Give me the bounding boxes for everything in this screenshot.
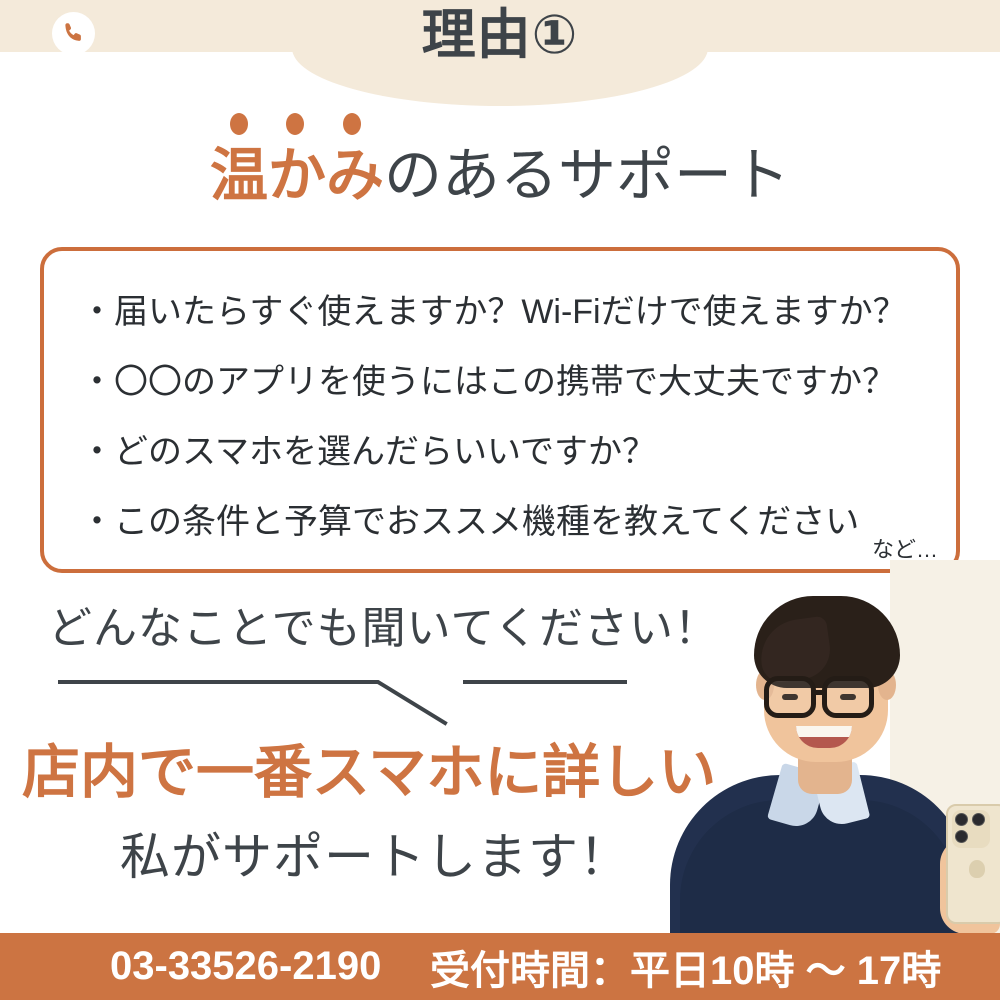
hero-headline-accent: 温かみ (210, 143, 384, 208)
staff-photo (640, 560, 1000, 933)
glasses-bridge-icon (814, 690, 826, 695)
phone-icon (52, 12, 95, 55)
page-title: 理由① (0, 4, 1000, 66)
poster-canvas: 理由① 温かみのあるサポート ・届いたらすぐ使えますか？Wi-Fiだけで使えます… (0, 0, 1000, 1000)
glasses-lens-right-icon (822, 676, 874, 718)
question-list: ・届いたらすぐ使えますか？Wi-Fiだけで使えますか？ ・〇〇のアプリを使うには… (80, 277, 950, 557)
glasses-lens-left-icon (764, 676, 816, 718)
camera-lens-icon (955, 830, 968, 843)
apple-logo-icon (969, 860, 985, 878)
footer-phone-number[interactable]: 03-33526-2190 (110, 933, 381, 1000)
camera-lens-icon (972, 813, 985, 826)
emphasis-dot (343, 113, 361, 135)
speech-bubble-underline-icon (0, 655, 700, 735)
list-item: ・〇〇のアプリを使うにはこの携帯で大丈夫ですか？ (80, 347, 950, 417)
photo-sweater-shading (680, 800, 960, 933)
list-item: ・この条件と予算でおススメ機種を教えてください (80, 487, 950, 557)
list-item: ・どのスマホを選んだらいいですか？ (80, 417, 950, 487)
hero-headline: 温かみのあるサポート (0, 140, 1000, 212)
hero-headline-rest: のあるサポート (384, 143, 790, 208)
cta-subheadline: 私がサポートします！ (120, 826, 630, 888)
callout-subline: どんなことでも聞いてください！ (48, 600, 719, 658)
photo-teeth (796, 726, 852, 737)
emphasis-dot (230, 113, 248, 135)
camera-lens-icon (955, 813, 968, 826)
smartphone-camera-array-icon (952, 810, 990, 848)
cta-headline: 店内で一番スマホに詳しい (22, 740, 716, 806)
emphasis-dots (228, 113, 428, 141)
list-item: ・届いたらすぐ使えますか？Wi-Fiだけで使えますか？ (80, 277, 950, 347)
question-list-box: ・届いたらすぐ使えますか？Wi-Fiだけで使えますか？ ・〇〇のアプリを使うには… (40, 247, 960, 573)
emphasis-dot (286, 113, 304, 135)
footer-business-hours: 受付時間：平日10時 〜 17時 (430, 933, 941, 1000)
